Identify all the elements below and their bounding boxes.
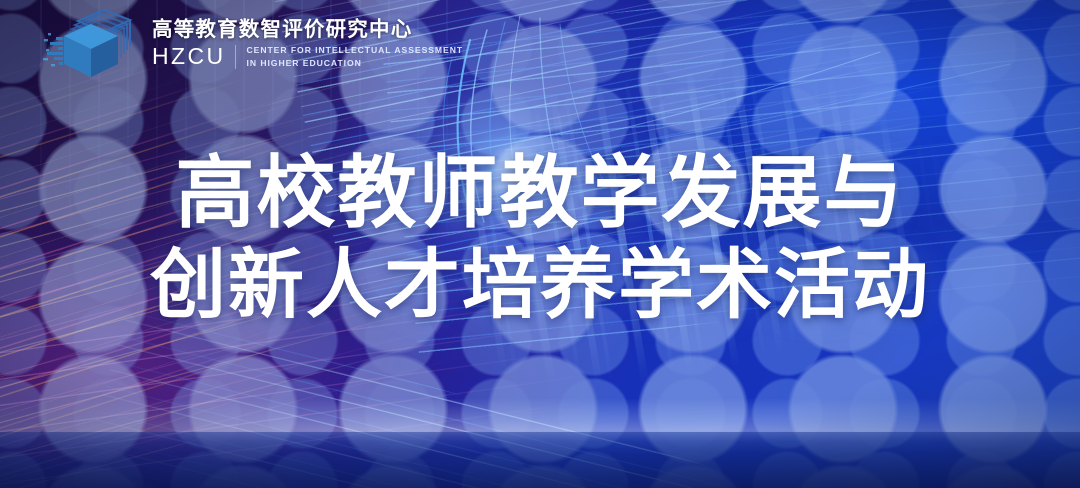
vertical-divider [235,45,236,69]
logo-subtitle-row: HZCU CENTER FOR INTELLECTUAL ASSESSMENT … [152,45,463,69]
stacked-cube-icon [42,6,138,80]
banner-headline: 高校教师教学发展与 创新人才培养学术活动 [0,152,1080,325]
headline-line-2: 创新人才培养学术活动 [0,245,1080,326]
organization-name-cn: 高等教育数智评价研究中心 [152,19,463,40]
organization-tagline: CENTER FOR INTELLECTUAL ASSESSMENT IN HI… [246,45,463,68]
logo-text-group: 高等教育数智评价研究中心 HZCU CENTER FOR INTELLECTUA… [152,17,463,69]
tagline-line-1: CENTER FOR INTELLECTUAL ASSESSMENT [246,45,463,56]
event-banner: 高等教育数智评价研究中心 HZCU CENTER FOR INTELLECTUA… [0,0,1080,488]
organization-abbreviation: HZCU [152,45,225,68]
tagline-line-2: IN HIGHER EDUCATION [246,58,463,69]
headline-line-1: 高校教师教学发展与 [0,152,1080,236]
organization-logo: 高等教育数智评价研究中心 HZCU CENTER FOR INTELLECTUA… [42,6,463,80]
